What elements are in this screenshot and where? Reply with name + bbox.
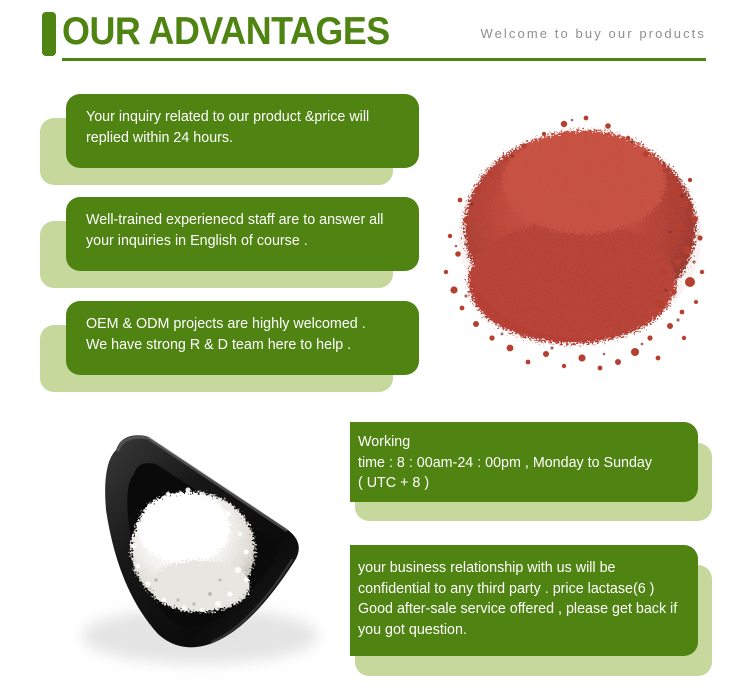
advantage-text: Your inquiry related to our product &pri… <box>86 107 406 148</box>
info-bubble-working-hours: Working time : 8 : 00am-24 : 00pm , Mond… <box>336 422 698 502</box>
advantage-text: Well-trained experienecd staff are to an… <box>86 210 408 251</box>
header-accent-bar <box>42 12 56 56</box>
white-powder-in-black-dish-photo <box>60 404 350 680</box>
page-header: OUR ADVANTAGES Welcome to buy our produc… <box>0 0 750 66</box>
header-divider <box>62 58 706 61</box>
advantage-bubble-trained-staff: Well-trained experienecd staff are to an… <box>66 197 419 271</box>
confidentiality-text: your business relationship with us will … <box>358 558 688 640</box>
page-title: OUR ADVANTAGES <box>62 9 390 55</box>
advantage-bubble-response-time: Your inquiry related to our product &pri… <box>66 94 419 168</box>
header-tagline: Welcome to buy our products <box>480 26 706 41</box>
red-powder-pile-photo <box>432 86 728 404</box>
advantages-page: OUR ADVANTAGES Welcome to buy our produc… <box>0 0 750 697</box>
working-hours-text: Working time : 8 : 00am-24 : 00pm , Mond… <box>358 432 688 494</box>
advantage-bubble-oem-odm: OEM & ODM projects are highly welcomed .… <box>66 301 419 375</box>
advantage-text: OEM & ODM projects are highly welcomed .… <box>86 314 408 355</box>
info-bubble-confidentiality: your business relationship with us will … <box>336 545 698 656</box>
